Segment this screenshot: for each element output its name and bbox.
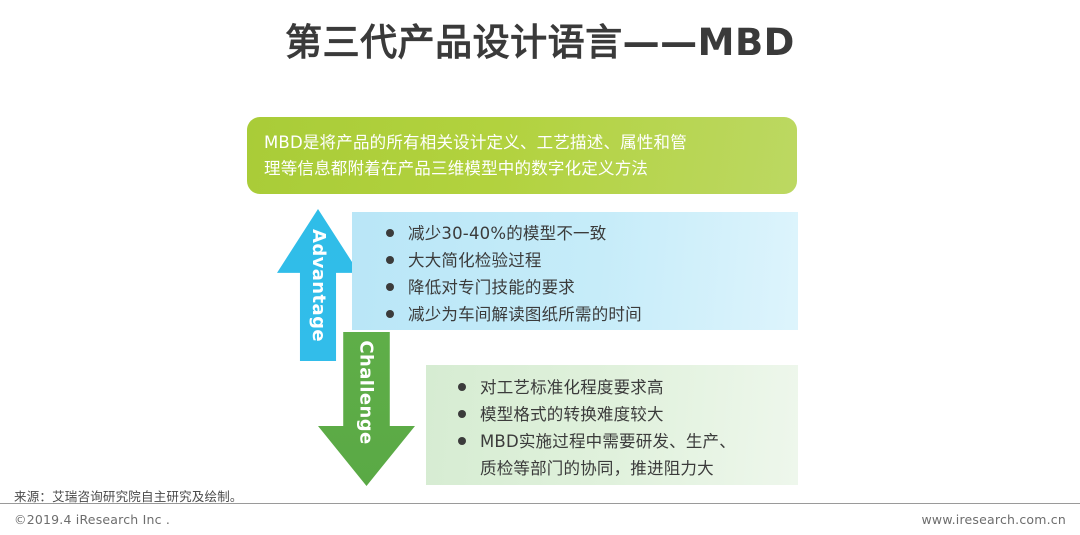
bullet-dot-icon: [458, 383, 466, 391]
list-item: 减少为车间解读图纸所需的时间: [386, 301, 798, 328]
advantage-bullet-list: 减少30-40%的模型不一致 大大简化检验过程 降低对专门技能的要求 减少为车间…: [386, 220, 798, 328]
advantage-bullet-text: 降低对专门技能的要求: [408, 278, 575, 297]
definition-line-2: 理等信息都附着在产品三维模型中的数字化定义方法: [264, 156, 781, 182]
list-item: 减少30-40%的模型不一致: [386, 220, 798, 247]
list-item: 降低对专门技能的要求: [386, 274, 798, 301]
list-item: 大大简化检验过程: [386, 247, 798, 274]
list-item: 模型格式的转换难度较大: [458, 401, 798, 428]
advantage-panel: 减少30-40%的模型不一致 大大简化检验过程 降低对专门技能的要求 减少为车间…: [352, 212, 798, 330]
bullet-dot-icon: [386, 256, 394, 264]
bullet-dot-icon: [386, 283, 394, 291]
bullet-dot-icon: [386, 310, 394, 318]
bullet-dot-icon: [458, 437, 466, 445]
advantage-bullet-text: 减少为车间解读图纸所需的时间: [408, 305, 642, 324]
page-title: 第三代产品设计语言——MBD: [0, 12, 1080, 66]
challenge-down-arrow-icon: Challenge: [318, 332, 415, 486]
challenge-bullet-text: 对工艺标准化程度要求高: [480, 378, 664, 397]
slide-canvas: 第三代产品设计语言——MBD MBD是将产品的所有相关设计定义、工艺描述、属性和…: [0, 0, 1080, 535]
challenge-panel: 对工艺标准化程度要求高 模型格式的转换难度较大 MBD实施过程中需要研发、生产、…: [426, 365, 798, 485]
challenge-bullet-text-continued: 质检等部门的协同，推进阻力大: [480, 455, 798, 482]
footer-divider: [0, 503, 1080, 504]
website-link[interactable]: www.iresearch.com.cn: [922, 512, 1067, 527]
challenge-bullet-list: 对工艺标准化程度要求高 模型格式的转换难度较大 MBD实施过程中需要研发、生产、…: [458, 374, 798, 482]
list-item: MBD实施过程中需要研发、生产、 质检等部门的协同，推进阻力大: [458, 428, 798, 482]
challenge-arrow-label: Challenge: [356, 340, 377, 444]
challenge-bullet-text: MBD实施过程中需要研发、生产、: [480, 432, 736, 451]
bullet-dot-icon: [458, 410, 466, 418]
advantage-bullet-text: 大大简化检验过程: [408, 251, 542, 270]
advantage-bullet-text: 减少30-40%的模型不一致: [408, 224, 606, 243]
bullet-dot-icon: [386, 229, 394, 237]
definition-line-1: MBD是将产品的所有相关设计定义、工艺描述、属性和管: [264, 130, 781, 156]
definition-banner: MBD是将产品的所有相关设计定义、工艺描述、属性和管 理等信息都附着在产品三维模…: [247, 117, 797, 194]
challenge-arrow-label-wrap: Challenge: [318, 332, 415, 486]
list-item: 对工艺标准化程度要求高: [458, 374, 798, 401]
copyright-text: ©2019.4 iResearch Inc .: [14, 512, 170, 527]
challenge-bullet-text: 模型格式的转换难度较大: [480, 405, 664, 424]
advantage-arrow-label: Advantage: [308, 229, 329, 342]
